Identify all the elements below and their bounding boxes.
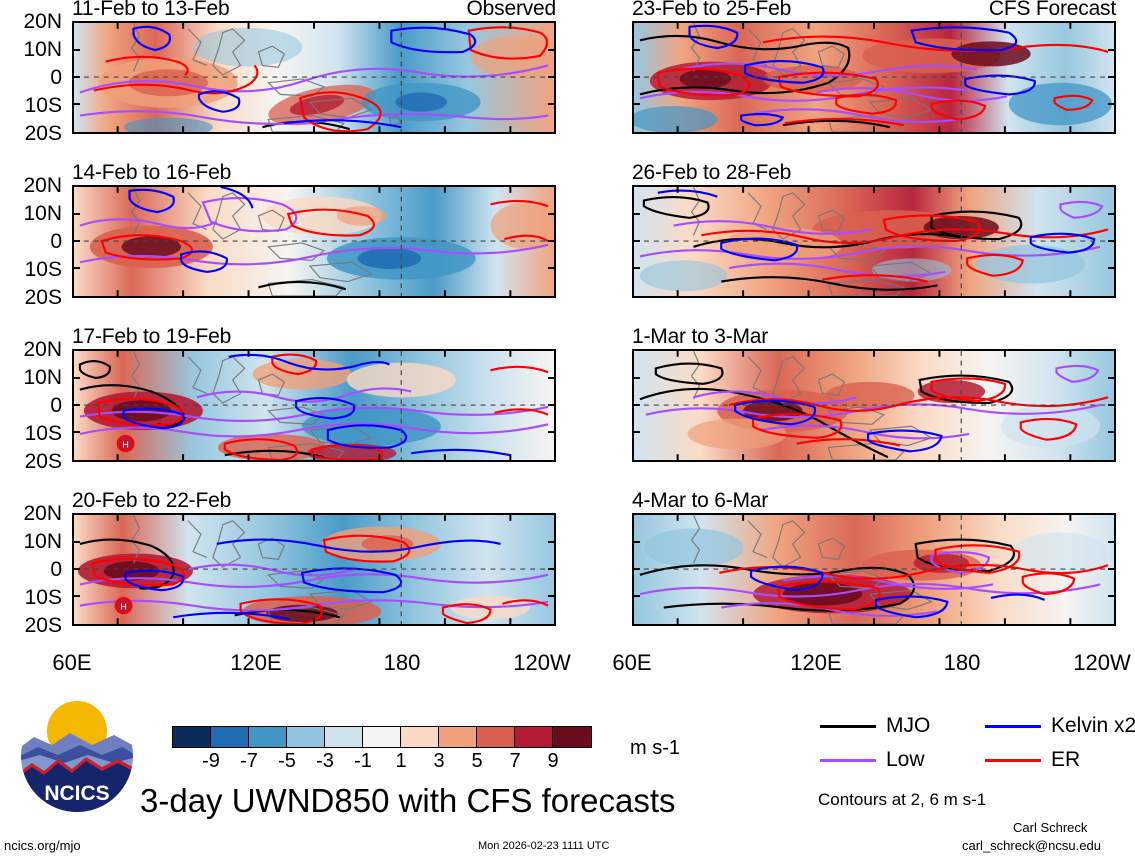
map-canvas[interactable]: H (72, 513, 556, 626)
page-title: 3-day UWND850 with CFS forecasts (140, 782, 676, 820)
colorbar-tick: 9 (533, 750, 573, 773)
xaxis-label-right-120e: 120E (756, 652, 876, 674)
panel-corner-label: Observed (467, 0, 556, 21)
panel-title: 23-Feb to 25-Feb (632, 0, 791, 21)
panel-observed-17feb-19feb: 17-Feb to 19-Feb (72, 349, 556, 462)
yaxis-label-left-r0-10n: 10N (0, 39, 62, 60)
yaxis-label-left-r1-10n: 10N (0, 203, 62, 224)
footer-author: Carl Schreck (1013, 820, 1087, 835)
map-canvas[interactable] (632, 21, 1116, 134)
colorbar-segment (211, 727, 249, 747)
legend-label: ER (1051, 748, 1080, 772)
figure-root: 20N 10N 0 10S 20S 20N 10N 0 10S 20S 20N … (0, 0, 1135, 860)
kelvin-line-icon (985, 725, 1041, 728)
panel-title: 20-Feb to 22-Feb (72, 489, 231, 513)
xaxis-label-left-180: 180 (342, 652, 462, 674)
er-line-icon (985, 759, 1041, 762)
colorbar-tick: -3 (305, 750, 345, 773)
map-canvas[interactable] (72, 21, 556, 134)
colorbar-tick: 3 (419, 750, 459, 773)
xaxis-label-right-180: 180 (902, 652, 1022, 674)
xaxis-label-right-60e: 60E (572, 652, 692, 674)
xaxis-label-left-60e: 60E (12, 652, 132, 674)
map-canvas[interactable] (72, 185, 556, 298)
mjo-line-icon (820, 725, 876, 728)
colorbar-segment (325, 727, 363, 747)
colorbar-segment (401, 727, 439, 747)
panel-observed-14feb-16feb: 14-Feb to 16-Feb (72, 185, 556, 298)
ncics-logo[interactable]: NCICS (18, 697, 136, 815)
footer-timestamp: Mon 2026-02-23 1111 UTC (478, 840, 609, 852)
map-canvas[interactable] (632, 513, 1116, 626)
panel-forecast-26feb-28feb: 26-Feb to 28-Feb (632, 185, 1116, 298)
yaxis-label-left-r2-20n: 20N (0, 339, 62, 360)
yaxis-label-left-r2-20s: 20S (0, 451, 62, 472)
legend-item-er: ER (985, 748, 1080, 772)
panel-title: 26-Feb to 28-Feb (632, 161, 791, 185)
colorbar-tick: -7 (229, 750, 269, 773)
colorbar-segment (287, 727, 325, 747)
svg-text:H: H (122, 440, 128, 450)
legend-item-low: Low (820, 748, 925, 772)
colorbar-segment (363, 727, 401, 747)
yaxis-label-left-r0-20n: 20N (0, 11, 62, 32)
yaxis-label-left-r0-10s: 10S (0, 95, 62, 116)
xaxis-label-right-120w: 120W (1042, 652, 1135, 674)
panel-title: 17-Feb to 19-Feb (72, 325, 231, 349)
yaxis-label-left-r1-20n: 20N (0, 175, 62, 196)
yaxis-label-left-r2-10s: 10S (0, 423, 62, 444)
yaxis-label-left-r0-20s: 20S (0, 123, 62, 144)
yaxis-label-left-r0-0: 0 (0, 67, 62, 88)
yaxis-label-left-r2-0: 0 (0, 395, 62, 416)
panel-title: 1-Mar to 3-Mar (632, 325, 768, 349)
map-canvas[interactable] (632, 185, 1116, 298)
panel-observed-11feb-13feb: 11-Feb to 13-Feb Observed (72, 21, 556, 134)
colorbar-segment (173, 727, 211, 747)
panel-forecast-1mar-3mar: 1-Mar to 3-Mar (632, 349, 1116, 462)
colorbar-tick: 5 (457, 750, 497, 773)
colorbar-tick: -1 (343, 750, 383, 773)
colorbar-segment (515, 727, 553, 747)
colorbar-segment (439, 727, 477, 747)
colorbar-tick: 7 (495, 750, 535, 773)
footer-email[interactable]: carl_schreck@ncsu.edu (962, 838, 1101, 853)
colorbar-unit-label: m s-1 (630, 737, 680, 760)
colorbar (172, 726, 592, 748)
yaxis-label-left-r3-10n: 10N (0, 531, 62, 552)
yaxis-label-left-r1-10s: 10S (0, 259, 62, 280)
legend-label: Low (886, 748, 925, 772)
yaxis-label-left-r3-0: 0 (0, 559, 62, 580)
legend-label: Kelvin x2 (1051, 714, 1135, 738)
legend-item-kelvin: Kelvin x2 (985, 714, 1135, 738)
map-canvas[interactable] (632, 349, 1116, 462)
panel-title: 14-Feb to 16-Feb (72, 161, 231, 185)
yaxis-label-left-r3-20n: 20N (0, 503, 62, 524)
svg-text:H: H (120, 602, 126, 612)
panel-title: 4-Mar to 6-Mar (632, 489, 768, 513)
colorbar-segment (553, 727, 591, 747)
footer-site-link[interactable]: ncics.org/mjo (4, 838, 81, 853)
panel-corner-label: CFS Forecast (989, 0, 1116, 21)
yaxis-label-left-r1-20s: 20S (0, 287, 62, 308)
yaxis-label-left-r2-10n: 10N (0, 367, 62, 388)
colorbar-tick: -9 (191, 750, 231, 773)
logo-text: NCICS (44, 782, 109, 805)
xaxis-label-left-120e: 120E (196, 652, 316, 674)
colorbar-tick: 1 (381, 750, 421, 773)
panel-forecast-23feb-25feb: 23-Feb to 25-Feb CFS Forecast (632, 21, 1116, 134)
colorbar-segment (477, 727, 515, 747)
map-canvas[interactable]: H (72, 349, 556, 462)
panel-title: 11-Feb to 13-Feb (72, 0, 230, 21)
colorbar-tick: -5 (267, 750, 307, 773)
panel-forecast-4mar-6mar: 4-Mar to 6-Mar (632, 513, 1116, 626)
low-line-icon (820, 759, 876, 762)
colorbar-segment (249, 727, 287, 747)
yaxis-label-left-r1-0: 0 (0, 231, 62, 252)
panel-observed-20feb-22feb: 20-Feb to 22-Feb (72, 513, 556, 626)
contour-interval-note: Contours at 2, 6 m s-1 (818, 790, 986, 810)
legend-label: MJO (886, 714, 930, 738)
legend-item-mjo: MJO (820, 714, 930, 738)
yaxis-label-left-r3-10s: 10S (0, 587, 62, 608)
yaxis-label-left-r3-20s: 20S (0, 615, 62, 636)
